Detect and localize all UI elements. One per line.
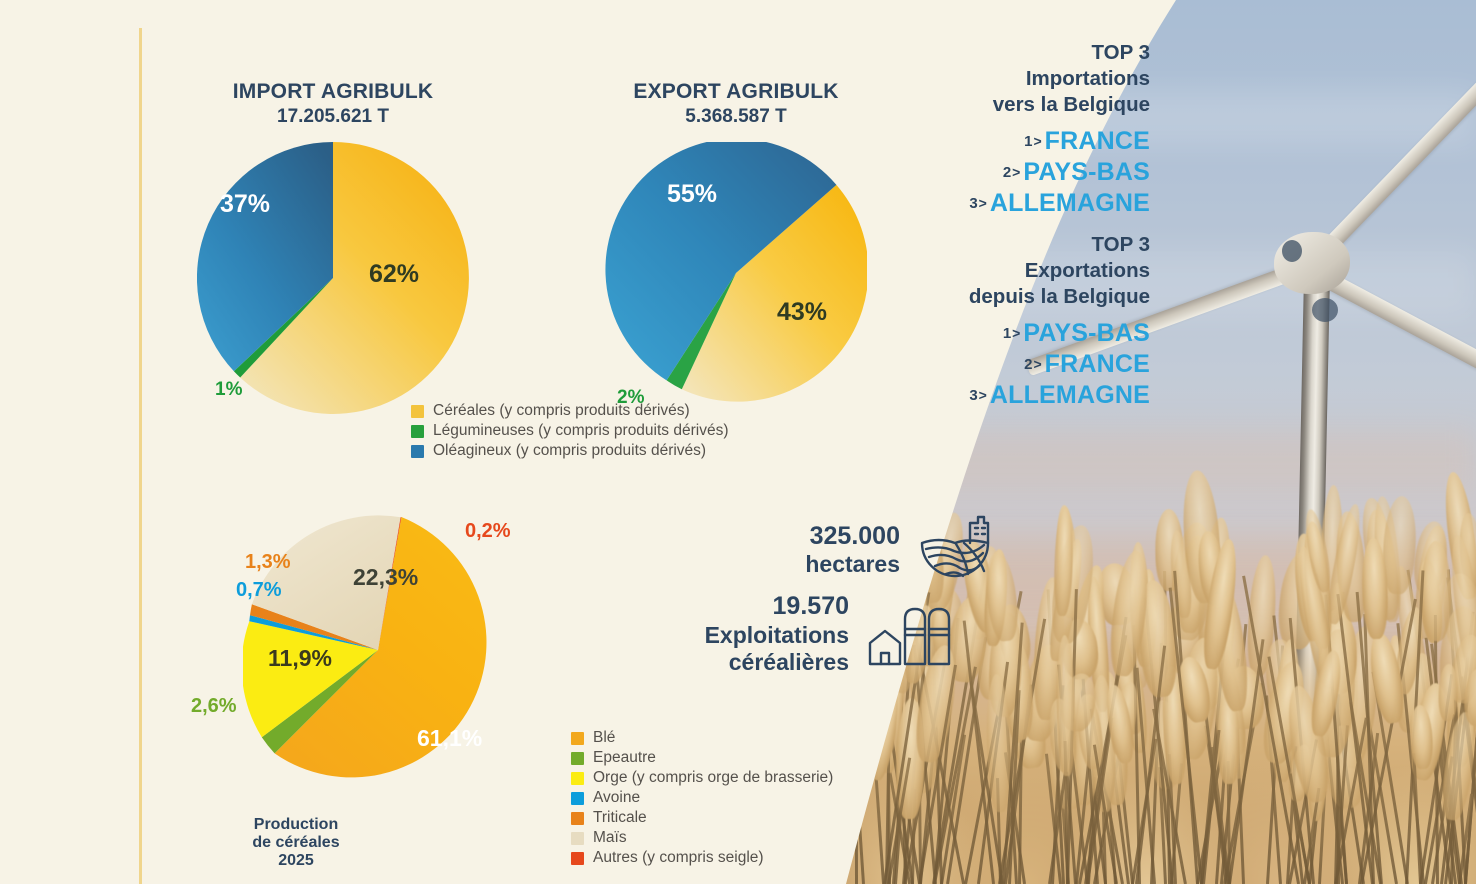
production-legend-swatch-icon xyxy=(571,732,584,745)
top3-exports-row: 2>FRANCE xyxy=(840,350,1150,379)
production-legend-swatch-icon xyxy=(571,852,584,865)
chevron-right-icon: > xyxy=(1033,356,1041,372)
production-legend-item: Autres (y compris seigle) xyxy=(571,849,833,867)
import-chart-subtitle: 17.205.621 T xyxy=(183,106,483,128)
export-chart-subtitle: 5.368.587 T xyxy=(586,106,886,128)
stat-hectares-text: 325.000 hectares xyxy=(800,522,900,579)
agribulk-legend-item: Légumineuses (y compris produits dérivés… xyxy=(411,422,728,440)
production-legend-label: Autres (y compris seigle) xyxy=(593,849,764,867)
import-donut-svg xyxy=(197,142,469,414)
label-autres: 0,2% xyxy=(465,520,511,543)
chevron-right-icon: > xyxy=(979,195,987,211)
stat-exploitations: 19.570 Exploitations céréalières xyxy=(624,592,959,676)
top3-exports-heading-line1: TOP 3 xyxy=(840,232,1150,258)
top3-imports-country: ALLEMAGNE xyxy=(990,189,1150,217)
top3-exports-rank: 1 xyxy=(1003,325,1011,342)
agribulk-legend-label: Légumineuses (y compris produits dérivés… xyxy=(433,422,728,440)
production-legend: BléEpeautreOrge (y compris orge de brass… xyxy=(571,729,833,869)
stat-exploitations-text: 19.570 Exploitations céréalières xyxy=(624,592,849,676)
top3-exports-heading: TOP 3 Exportations depuis la Belgique xyxy=(840,232,1150,309)
import-label-oleagineux: 37% xyxy=(220,190,270,219)
top3-exports-row: 1>PAYS-BAS xyxy=(840,319,1150,348)
production-legend-label: Avoine xyxy=(593,789,640,807)
top3-imports-row: 1>FRANCE xyxy=(860,127,1150,156)
top3-exports-rank: 2 xyxy=(1024,356,1032,373)
top3-imports-rank: 3 xyxy=(969,195,977,212)
production-legend-item: Avoine xyxy=(571,789,833,807)
label-orge: 11,9% xyxy=(268,645,332,672)
stat-hectares-unit: hectares xyxy=(800,551,900,578)
top3-exports-heading-line3: depuis la Belgique xyxy=(840,284,1150,310)
import-chart-title: IMPORT AGRIBULK xyxy=(183,80,483,104)
export-label-cereales: 43% xyxy=(777,298,827,327)
top3-imports-row: 3>ALLEMAGNE xyxy=(860,189,1150,218)
production-legend-swatch-icon xyxy=(571,772,584,785)
import-agribulk-chart: IMPORT AGRIBULK 17.205.621 T xyxy=(183,80,483,414)
label-mais: 22,3% xyxy=(353,564,418,591)
production-donut-center: Production de céréales 2025 xyxy=(243,790,349,884)
infographic-canvas: IMPORT AGRIBULK 17.205.621 T xyxy=(0,0,1476,884)
production-legend-label: Orge (y compris orge de brasserie) xyxy=(593,769,833,787)
production-legend-item: Triticale xyxy=(571,809,833,827)
agribulk-legend-label: Céréales (y compris produits dérivés) xyxy=(433,402,690,420)
export-chart-title: EXPORT AGRIBULK xyxy=(586,80,886,104)
production-cereales-chart: Production de céréales 2025 61,1% 2,6% 1… xyxy=(243,515,513,785)
chevron-right-icon: > xyxy=(1033,133,1041,149)
export-donut-svg xyxy=(605,142,867,404)
top3-imports-heading-line1: TOP 3 xyxy=(860,40,1150,66)
production-legend-item: Orge (y compris orge de brasserie) xyxy=(571,769,833,787)
agribulk-legend-swatch-icon xyxy=(411,405,424,418)
top3-imports-heading: TOP 3 Importations vers la Belgique xyxy=(860,40,1150,117)
agribulk-legend-swatch-icon xyxy=(411,445,424,458)
production-legend-label: Maïs xyxy=(593,829,627,847)
production-legend-swatch-icon xyxy=(571,752,584,765)
center-line-2: de céréales xyxy=(252,834,339,852)
import-label-legumineuses: 1% xyxy=(215,379,242,401)
top3-imports-block: TOP 3 Importations vers la Belgique 1>FR… xyxy=(860,40,1150,218)
chevron-right-icon: > xyxy=(1012,325,1020,341)
field-farm-icon xyxy=(918,513,992,587)
label-epeautre: 2,6% xyxy=(191,695,237,718)
center-line-1: Production xyxy=(254,816,338,834)
top3-imports-rank: 1 xyxy=(1024,133,1032,150)
silo-farm-icon xyxy=(867,601,959,667)
agribulk-legend: Céréales (y compris produits dérivés)Lég… xyxy=(411,402,728,462)
label-avoine: 0,7% xyxy=(236,579,282,602)
chevron-right-icon: > xyxy=(1012,164,1020,180)
production-legend-item: Blé xyxy=(571,729,833,747)
label-triticale: 1,3% xyxy=(245,551,291,574)
stat-exploitations-value: 19.570 xyxy=(624,592,849,622)
stat-exploitations-unit: Exploitations céréalières xyxy=(624,622,849,676)
top3-exports-row: 3>ALLEMAGNE xyxy=(840,381,1150,410)
production-legend-item: Epeautre xyxy=(571,749,833,767)
top3-exports-rank: 3 xyxy=(969,387,977,404)
agribulk-legend-item: Oléagineux (y compris produits dérivés) xyxy=(411,442,728,460)
top3-imports-country: PAYS-BAS xyxy=(1023,158,1150,186)
agribulk-legend-label: Oléagineux (y compris produits dérivés) xyxy=(433,442,706,460)
top3-imports-heading-line2: Importations xyxy=(860,66,1150,92)
import-donut-hole xyxy=(197,419,303,525)
top3-imports-heading-line3: vers la Belgique xyxy=(860,92,1150,118)
center-line-3: 2025 xyxy=(278,852,314,870)
production-legend-label: Blé xyxy=(593,729,615,747)
import-label-cereales: 62% xyxy=(369,260,419,289)
production-legend-swatch-icon xyxy=(571,812,584,825)
left-accent-line xyxy=(139,28,142,884)
agribulk-legend-swatch-icon xyxy=(411,425,424,438)
production-legend-swatch-icon xyxy=(571,792,584,805)
stat-hectares: 325.000 hectares xyxy=(800,513,992,587)
top3-exports-block: TOP 3 Exportations depuis la Belgique 1>… xyxy=(840,232,1150,410)
stat-hectares-value: 325.000 xyxy=(800,522,900,552)
top3-imports-rank: 2 xyxy=(1003,164,1011,181)
top3-imports-country: FRANCE xyxy=(1045,127,1150,155)
chevron-right-icon: > xyxy=(979,387,987,403)
top3-exports-country: PAYS-BAS xyxy=(1023,319,1150,347)
top3-imports-row: 2>PAYS-BAS xyxy=(860,158,1150,187)
label-ble: 61,1% xyxy=(417,725,482,752)
agribulk-legend-item: Céréales (y compris produits dérivés) xyxy=(411,402,728,420)
top3-exports-country: FRANCE xyxy=(1045,350,1150,378)
top3-exports-heading-line2: Exportations xyxy=(840,258,1150,284)
export-label-oleagineux: 55% xyxy=(667,180,717,209)
top3-exports-country: ALLEMAGNE xyxy=(990,381,1150,409)
production-legend-swatch-icon xyxy=(571,832,584,845)
production-legend-label: Triticale xyxy=(593,809,647,827)
production-legend-item: Maïs xyxy=(571,829,833,847)
production-legend-label: Epeautre xyxy=(593,749,656,767)
